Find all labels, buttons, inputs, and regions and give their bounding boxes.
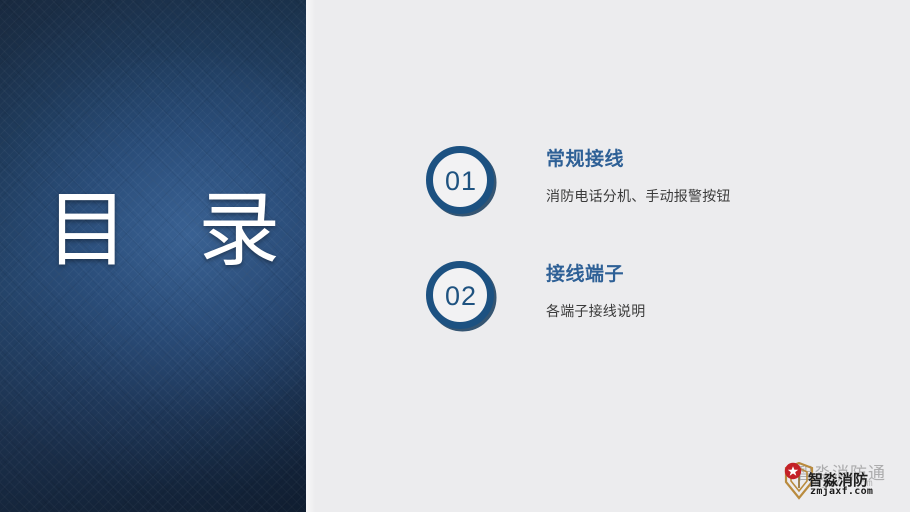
- list-item-title: 常规接线: [546, 146, 876, 172]
- list-item-title: 接线端子: [546, 261, 876, 287]
- list-item[interactable]: 02 接线端子 各端子接线说明: [425, 255, 885, 370]
- number-badge-label: 02: [425, 260, 497, 332]
- left-title-panel: 目 录: [0, 0, 306, 512]
- slide-canvas: 目 录 01 常规接线 消防电话分机、手动报警按钮: [0, 0, 910, 512]
- watermark: 智淼消防通 zmjaxf.com 智淼消防 zmjaxf.com: [782, 458, 906, 508]
- list-item-subtitle: 消防电话分机、手动报警按钮: [546, 187, 876, 207]
- list-item[interactable]: 01 常规接线 消防电话分机、手动报警按钮: [425, 140, 885, 255]
- number-badge-02: 02: [425, 260, 497, 332]
- list-item-text: 接线端子 各端子接线说明: [546, 261, 876, 322]
- page-title: 目 录: [46, 186, 286, 276]
- number-badge-01: 01: [425, 145, 497, 217]
- table-of-contents-list: 01 常规接线 消防电话分机、手动报警按钮 02 接线端子 各端子接线说明: [425, 140, 885, 370]
- number-badge-label: 01: [425, 145, 497, 217]
- list-item-subtitle: 各端子接线说明: [546, 302, 876, 322]
- panel-edge-divider: [306, 0, 315, 512]
- watermark-url: zmjaxf.com: [810, 486, 873, 497]
- list-item-text: 常规接线 消防电话分机、手动报警按钮: [546, 146, 876, 207]
